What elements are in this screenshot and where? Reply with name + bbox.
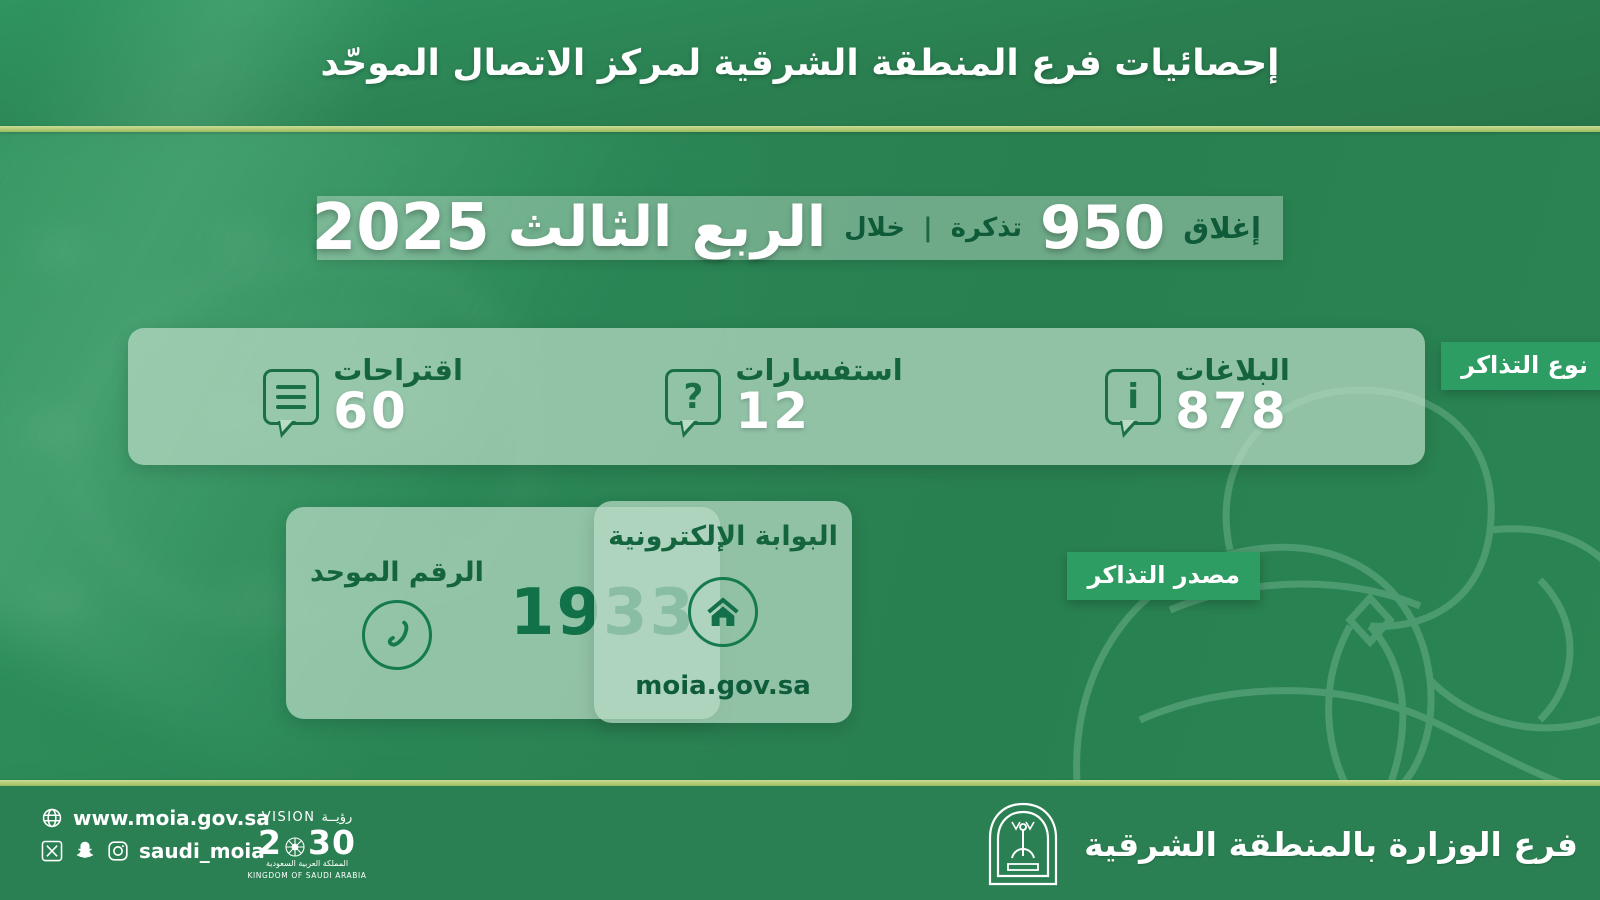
ticket-type-label: البلاغات — [1175, 355, 1290, 385]
source-card-portal: البوابة الإلكترونية moia.gov.sa — [594, 501, 852, 723]
quarter-label: الربع الثالث — [508, 200, 826, 256]
ticket-type-label: استفسارات — [735, 355, 902, 385]
portal-url[interactable]: moia.gov.sa — [635, 671, 811, 701]
subtitle-content: إغلاق 950 تذكرة | خلال الربع الثالث 2025 — [283, 174, 1283, 282]
footer-bar: www.moia.gov.sa — [0, 786, 1600, 900]
footer-brand-block: فرع الوزارة بالمنطقة الشرقية — [982, 800, 1578, 888]
vision-kingdom-en: KINGDOM OF SAUDI ARABIA — [232, 871, 382, 880]
globe-icon — [40, 807, 63, 830]
ticket-type-value: 60 — [333, 385, 409, 438]
ministry-emblem-icon — [982, 800, 1064, 888]
portal-label: البوابة الإلكترونية — [608, 521, 838, 552]
during-word: خلال — [844, 213, 905, 243]
vision-num-right: 30 — [308, 826, 356, 859]
vision-emblem-icon — [283, 831, 307, 855]
ticket-type-value: 12 — [735, 385, 811, 438]
vision-kingdom-ar: المملكة العربية السعودية — [232, 859, 382, 868]
x-icon[interactable] — [40, 840, 63, 863]
unified-number-label: الرقم الموحد — [310, 557, 484, 588]
home-icon — [688, 577, 758, 647]
section-tag-ticket-type: نوع التذاكر — [1441, 342, 1600, 390]
header-bar: إحصائيات فرع المنطقة الشرقية لمركز الاتص… — [0, 0, 1600, 127]
ticket-type-label: اقتراحات — [333, 355, 463, 385]
infographic-canvas: إحصائيات فرع المنطقة الشرقية لمركز الاتص… — [0, 0, 1600, 900]
footer-brand-name: فرع الوزارة بالمنطقة الشرقية — [1084, 825, 1578, 864]
section-tag-ticket-source: مصدر التذاكر — [1067, 552, 1260, 600]
subtitle-strip: إغلاق 950 تذكرة | خلال الربع الثالث 2025 — [0, 196, 1600, 260]
closed-count: 950 — [1040, 198, 1165, 258]
info-glyph: i — [1127, 380, 1139, 414]
question-glyph: ? — [684, 380, 704, 414]
lines-bubble-icon — [263, 369, 319, 425]
phone-icon — [362, 600, 432, 670]
info-bubble-icon: i — [1105, 369, 1161, 425]
question-bubble-icon: ? — [665, 369, 721, 425]
instagram-icon[interactable] — [106, 840, 129, 863]
ticket-type-item-suggestions: اقتراحات 60 — [263, 355, 463, 438]
ticket-type-item-inquiries: استفسارات 12 ? — [665, 355, 902, 438]
vision-2030-logo: VISION رؤيــة 2 30 المملكة العربية السعو… — [232, 810, 382, 880]
vision-num-left: 2 — [258, 826, 282, 859]
snapchat-icon[interactable] — [73, 840, 96, 863]
ticket-type-panel: البلاغات 878 i استفسارات 12 ? اقتراحات 6… — [128, 328, 1425, 465]
lines-glyph — [276, 385, 306, 409]
closed-label: إغلاق — [1183, 211, 1261, 245]
ticket-type-value: 878 — [1175, 385, 1288, 438]
divider-top — [0, 126, 1600, 132]
subtitle-separator: | — [923, 213, 933, 243]
year-label: 2025 — [312, 196, 490, 260]
ticket-type-item-reports: البلاغات 878 i — [1105, 355, 1290, 438]
ticket-word: تذكرة — [951, 213, 1022, 243]
page-title: إحصائيات فرع المنطقة الشرقية لمركز الاتص… — [321, 43, 1280, 84]
